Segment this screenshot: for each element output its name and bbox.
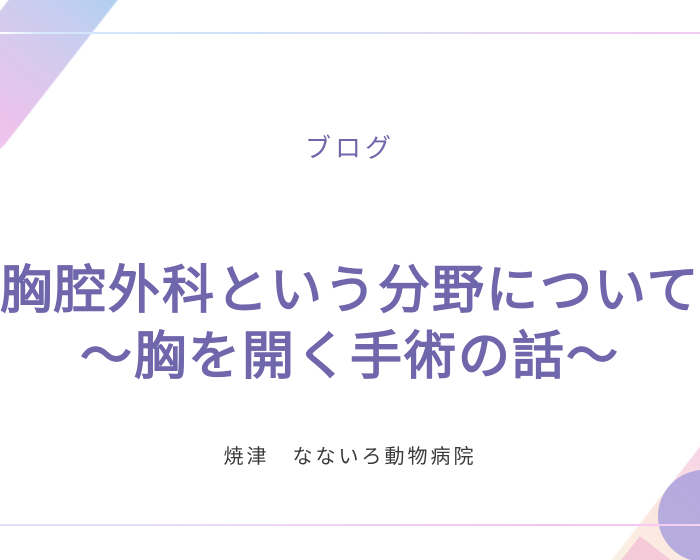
page-title: 胸腔外科という分野について 〜胸を開く手術の話〜 [0, 259, 700, 390]
clinic-name: 焼津 なないろ動物病院 [0, 440, 700, 469]
category-label: ブログ [0, 133, 700, 164]
page-title-line-2: 〜胸を開く手術の話〜 [0, 325, 700, 391]
blog-title-card: ブログ 胸腔外科という分野について 〜胸を開く手術の話〜 焼津 なないろ動物病院 [0, 0, 700, 560]
page-title-line-1: 胸腔外科という分野について [0, 259, 700, 325]
card-content: ブログ 胸腔外科という分野について 〜胸を開く手術の話〜 焼津 なないろ動物病院 [0, 0, 700, 560]
